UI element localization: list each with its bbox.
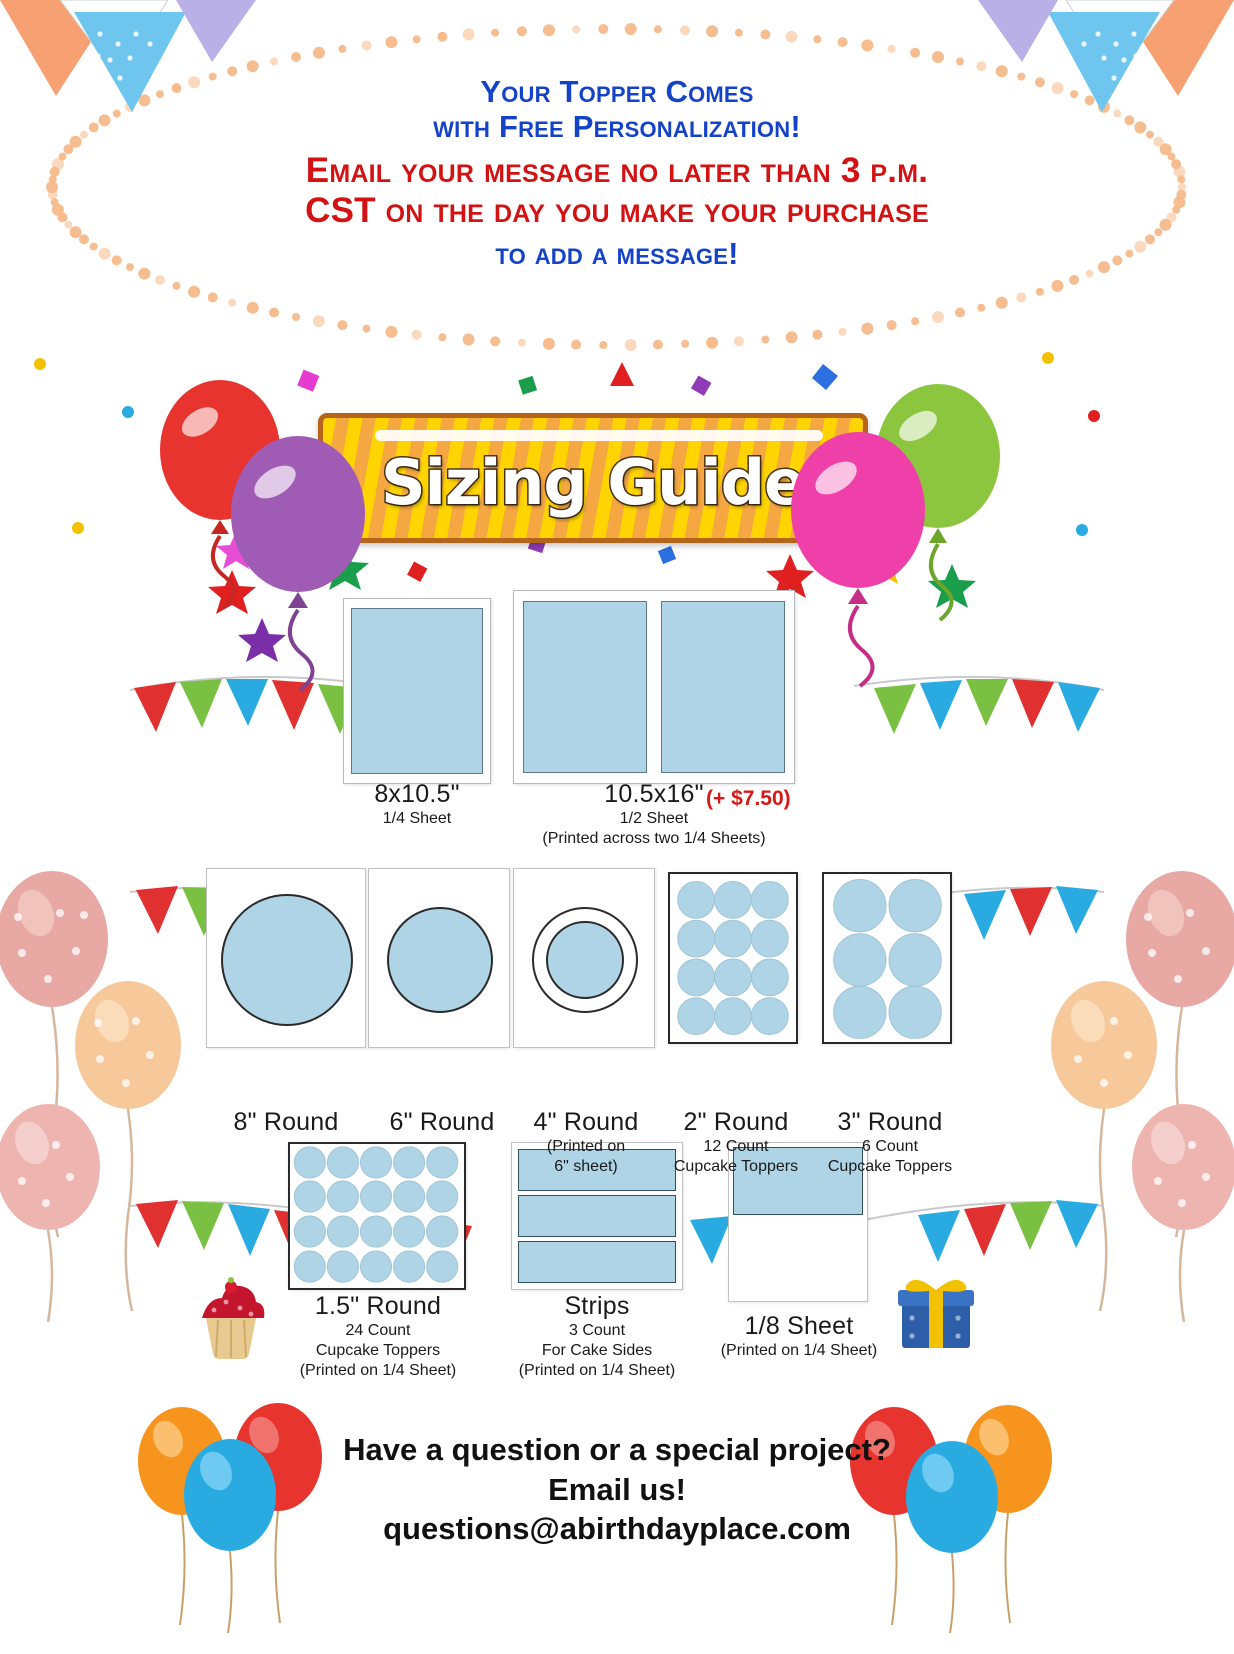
banner-gloss-bar xyxy=(375,430,823,441)
sub2-strips: For Cake Sides xyxy=(497,1341,697,1361)
label-2in-round: 2" Round xyxy=(648,1108,824,1137)
header-line-2: with Free Personalization! xyxy=(0,109,1234,144)
caption-eighth-sheet: 1/8 Sheet (Printed on 1/4 Sheet) xyxy=(696,1312,902,1361)
diagram-half-sheet xyxy=(513,590,795,784)
grid-1-5in-circles xyxy=(290,1144,464,1288)
half-sheet-sub1: 1/2 Sheet xyxy=(520,809,788,829)
sub2-4in-round: 6" sheet) xyxy=(500,1157,672,1177)
header-line-3: Email your message no later than 3 p.m. xyxy=(0,151,1234,191)
quarter-sheet-label: 8x10.5" xyxy=(303,780,531,809)
header-line-1: Your Topper Comes xyxy=(0,74,1234,109)
caption-3in-round: 3" Round 6 Count Cupcake Toppers xyxy=(802,1108,978,1177)
caption-2in-round: 2" Round 12 Count Cupcake Toppers xyxy=(648,1108,824,1177)
header-line-4: CST on the day you make your purchase xyxy=(0,191,1234,231)
sub1-3in-round: 6 Count xyxy=(802,1137,978,1157)
diagram-4in-round xyxy=(513,868,655,1048)
sub3-strips: (Printed on 1/4 Sheet) xyxy=(497,1361,697,1381)
header-line-5: to add a message! xyxy=(0,236,1234,271)
balloon-purple-banner xyxy=(228,432,378,692)
label-1-5in-round: 1.5" Round xyxy=(278,1292,478,1321)
sub1-4in-round: (Printed on xyxy=(500,1137,672,1157)
circle-8in xyxy=(221,894,353,1026)
circle-4in xyxy=(546,921,624,999)
gift-box-icon xyxy=(890,1264,982,1356)
sub1-eighth-sheet: (Printed on 1/4 Sheet) xyxy=(696,1341,902,1361)
label-eighth-sheet: 1/8 Sheet xyxy=(696,1312,902,1341)
label-3in-round: 3" Round xyxy=(802,1108,978,1137)
circle-6in xyxy=(387,907,493,1013)
diagram-2in-round xyxy=(668,872,798,1044)
footer-line-1: Have a question or a special project? xyxy=(0,1430,1234,1470)
caption-4in-round: 4" Round (Printed on 6" sheet) xyxy=(500,1108,672,1177)
caption-quarter-sheet: 8x10.5" 1/4 Sheet xyxy=(303,780,531,829)
diagram-6in-round xyxy=(368,868,510,1048)
sub1-2in-round: 12 Count xyxy=(648,1137,824,1157)
caption-1-5in-round: 1.5" Round 24 Count Cupcake Toppers (Pri… xyxy=(278,1292,478,1380)
caption-strips: Strips 3 Count For Cake Sides (Printed o… xyxy=(497,1292,697,1380)
diagram-8in-round xyxy=(206,868,366,1048)
label-strips: Strips xyxy=(497,1292,697,1321)
strip-3 xyxy=(518,1241,676,1283)
sub2-3in-round: Cupcake Toppers xyxy=(802,1157,978,1177)
sub1-1-5in-round: 24 Count xyxy=(278,1321,478,1341)
sub2-2in-round: Cupcake Toppers xyxy=(648,1157,824,1177)
footer-line-2: Email us! xyxy=(0,1470,1234,1510)
sub3-1-5in-round: (Printed on 1/4 Sheet) xyxy=(278,1361,478,1381)
balloon-pink-banner xyxy=(786,428,936,690)
sub2-1-5in-round: Cupcake Toppers xyxy=(278,1341,478,1361)
header-text-block: Your Topper Comes with Free Personalizat… xyxy=(0,74,1234,272)
sizing-guide-poster: Your Topper Comes with Free Personalizat… xyxy=(0,0,1234,1654)
label-4in-round: 4" Round xyxy=(500,1108,672,1137)
cupcake-icon xyxy=(188,1272,274,1364)
footer-text-block: Have a question or a special project? Em… xyxy=(0,1430,1234,1549)
caption-8in-round: 8" Round xyxy=(196,1108,376,1137)
half-sheet-sub2: (Printed across two 1/4 Sheets) xyxy=(520,829,788,849)
half-sheet-fill-right xyxy=(661,601,785,773)
label-8in-round: 8" Round xyxy=(196,1108,376,1137)
footer-email[interactable]: questions@abirthdayplace.com xyxy=(0,1509,1234,1549)
sub1-strips: 3 Count xyxy=(497,1321,697,1341)
half-sheet-surcharge: (+ $7.50) xyxy=(706,787,826,811)
diagram-3in-round xyxy=(822,872,952,1044)
half-sheet-fill-left xyxy=(523,601,647,773)
banner-title: Sizing Guide xyxy=(323,446,863,519)
strip-2 xyxy=(518,1195,676,1237)
diagram-1-5in-round xyxy=(288,1142,466,1290)
grid-2in-circles xyxy=(670,874,796,1042)
quarter-sheet-sub1: 1/4 Sheet xyxy=(303,809,531,829)
grid-3in-circles xyxy=(824,874,950,1042)
